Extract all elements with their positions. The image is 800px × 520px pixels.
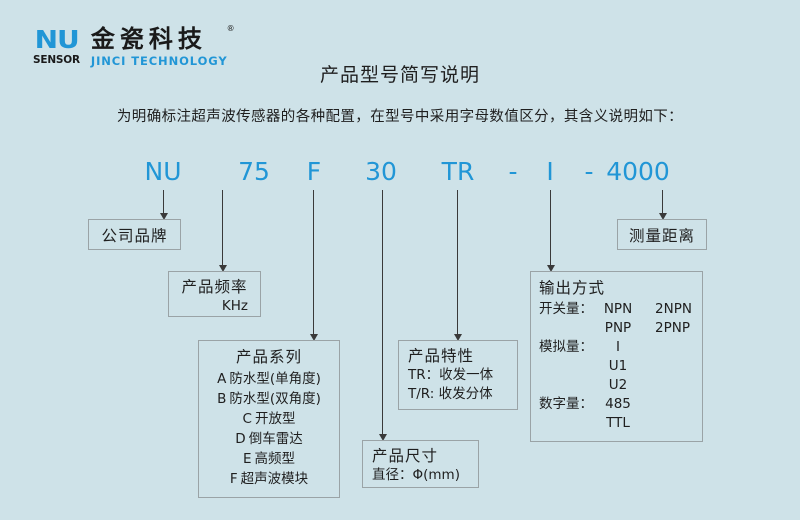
- box-product-series-title: 产品系列: [205, 345, 333, 367]
- connector-line: [382, 190, 383, 434]
- series-item-code: C: [243, 411, 252, 427]
- output-value: 485: [595, 395, 641, 414]
- series-item-code: A: [217, 371, 226, 387]
- series-item-code: F: [230, 471, 238, 487]
- box-product-series: 产品系列 A防水型(单角度)B防水型(双角度)C开放型D倒车雷达E高频型F超声波…: [198, 340, 340, 498]
- output-row: 数字量：485: [539, 395, 702, 414]
- product-feature-list: TR：收发一体T/R: 收发分体: [408, 366, 517, 404]
- model-code-row: NU75F30TR-I-4000: [0, 155, 800, 189]
- box-measuring-distance-title: 测量距离: [629, 224, 695, 246]
- output-value: U2: [595, 376, 641, 395]
- connector-line: [222, 190, 223, 265]
- series-item-label: 防水型(双角度): [229, 391, 321, 407]
- series-item: C开放型: [205, 409, 333, 429]
- series-item: F超声波模块: [205, 469, 333, 489]
- model-separator: -: [584, 155, 593, 189]
- output-row: PNP2PNP: [539, 319, 702, 338]
- connector-line: [662, 190, 663, 213]
- model-token: 30: [365, 155, 397, 189]
- series-item-label: 防水型(单角度): [229, 371, 321, 387]
- model-token: TR: [442, 155, 475, 189]
- product-series-list: A防水型(单角度)B防水型(双角度)C开放型D倒车雷达E高频型F超声波模块: [205, 369, 333, 489]
- output-value: I: [595, 338, 641, 357]
- output-row: U1: [539, 357, 702, 376]
- model-token: F: [307, 155, 321, 189]
- diagram-canvas: NU SENSOR 金瓷科技 ® JINCI TECHNOLOGY 产品型号简写…: [0, 0, 800, 520]
- registered-trademark-icon: ®: [227, 25, 235, 33]
- series-item-code: B: [217, 391, 226, 407]
- output-mode-groups: 开关量：NPN2NPNPNP2PNP模拟量：IU1U2数字量：485TTL: [539, 300, 702, 433]
- box-company-brand-title: 公司品牌: [101, 224, 167, 246]
- feature-line: TR：收发一体: [408, 366, 517, 385]
- series-item-code: D: [235, 431, 245, 447]
- box-product-frequency-unit: KHz: [175, 298, 254, 314]
- box-measuring-distance: 测量距离: [617, 219, 707, 250]
- series-item: B防水型(双角度): [205, 389, 333, 409]
- output-row: TTL: [539, 414, 702, 433]
- connector-line: [457, 190, 458, 334]
- box-product-size-title: 产品尺寸: [372, 444, 478, 466]
- page-title: 产品型号简写说明: [0, 60, 800, 87]
- box-product-frequency-title: 产品频率: [175, 275, 254, 297]
- series-item: A防水型(单角度): [205, 369, 333, 389]
- output-value: TTL: [595, 414, 641, 433]
- output-value-secondary: 2NPN: [655, 300, 701, 319]
- output-value-secondary: 2PNP: [655, 319, 701, 338]
- model-token: I: [546, 155, 553, 189]
- feature-line: T/R: 收发分体: [408, 385, 517, 404]
- box-output-mode-title: 输出方式: [539, 276, 702, 298]
- model-separator: -: [508, 155, 517, 189]
- output-row: 模拟量：I: [539, 338, 702, 357]
- logo-nu-text: NU: [34, 27, 78, 52]
- model-token: 4000: [606, 155, 670, 189]
- output-group-label: 模拟量：: [539, 338, 595, 357]
- output-value: U1: [595, 357, 641, 376]
- box-product-size-line: 直径：Φ(mm): [372, 466, 478, 485]
- output-group-label: 开关量：: [539, 300, 595, 319]
- logo-chinese-wrap: 金瓷科技 ®: [91, 27, 228, 51]
- series-item-label: 高频型: [255, 451, 296, 467]
- box-product-feature: 产品特性 TR：收发一体T/R: 收发分体: [398, 340, 518, 410]
- box-product-size: 产品尺寸 直径：Φ(mm): [362, 440, 479, 488]
- series-item: E高频型: [205, 449, 333, 469]
- output-value: PNP: [595, 319, 641, 338]
- box-product-frequency: 产品频率 KHz: [168, 271, 261, 317]
- output-row: 开关量：NPN2NPN: [539, 300, 702, 319]
- output-row: U2: [539, 376, 702, 395]
- box-output-mode: 输出方式 开关量：NPN2NPNPNP2PNP模拟量：IU1U2数字量：485T…: [530, 271, 703, 442]
- connector-line: [313, 190, 314, 334]
- connector-line: [550, 190, 551, 265]
- series-item-label: 超声波模块: [241, 471, 309, 487]
- series-item-label: 倒车雷达: [249, 431, 303, 447]
- connector-line: [163, 190, 164, 213]
- output-value: NPN: [595, 300, 641, 319]
- model-token: NU: [145, 155, 182, 189]
- logo-company-cn: 金瓷科技: [91, 25, 207, 53]
- series-item: D倒车雷达: [205, 429, 333, 449]
- model-token: 75: [238, 155, 270, 189]
- output-group-label: 数字量：: [539, 395, 595, 414]
- page-subtitle: 为明确标注超声波传感器的各种配置，在型号中采用字母数值区分，其含义说明如下：: [0, 105, 800, 126]
- series-item-code: E: [243, 451, 252, 467]
- box-product-feature-title: 产品特性: [408, 344, 517, 366]
- series-item-label: 开放型: [255, 411, 296, 427]
- box-company-brand: 公司品牌: [88, 219, 181, 250]
